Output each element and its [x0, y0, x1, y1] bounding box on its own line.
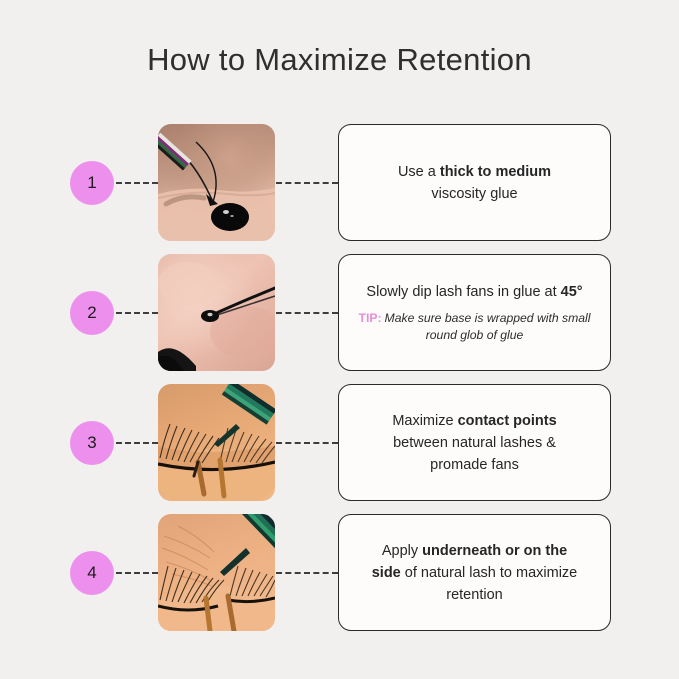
step-card-tip: TIP:Make sure base is wrapped with small… — [353, 310, 596, 344]
connector-dash-left — [116, 182, 158, 184]
step-row: 4 — [0, 514, 679, 644]
card-line2-bold: side — [372, 565, 401, 581]
connector-dash-left — [116, 442, 158, 444]
card-line1-bold: contact points — [458, 413, 557, 429]
card-line1-pre: Maximize — [392, 413, 457, 429]
step-number-badge-3: 3 — [70, 421, 114, 465]
card-line2-pre: viscosity glue — [431, 186, 517, 202]
step-number-label: 1 — [87, 173, 96, 193]
step-card-text: Use a thick to medium viscosity glue — [398, 161, 551, 205]
steps-list: 1 — [0, 124, 679, 644]
step-number-label: 4 — [87, 563, 96, 583]
connector-dash-right — [276, 182, 338, 184]
step-image-2 — [158, 254, 275, 371]
step-image-3 — [158, 384, 275, 501]
infographic-page: How to Maximize Retention 1 — [0, 0, 679, 679]
step-card-4: Apply underneath or on the side of natur… — [338, 514, 611, 631]
card-line1-bold: underneath or on the — [422, 543, 567, 559]
step-number-badge-4: 4 — [70, 551, 114, 595]
step-row: 3 — [0, 384, 679, 514]
step-card-text: Slowly dip lash fans in glue at 45° — [366, 281, 582, 303]
step-card-text: Apply underneath or on the side of natur… — [372, 540, 578, 606]
card-line1-pre: Apply — [382, 543, 422, 559]
card-line3: retention — [446, 587, 502, 603]
connector-dash-left — [116, 572, 158, 574]
page-title: How to Maximize Retention — [0, 42, 679, 78]
step-image-4 — [158, 514, 275, 631]
card-line1-pre: Slowly dip lash fans in glue at — [366, 284, 560, 300]
step-row: 1 — [0, 124, 679, 254]
step-number-badge-2: 2 — [70, 291, 114, 335]
step-card-3: Maximize contact points between natural … — [338, 384, 611, 501]
card-line3: promade fans — [430, 457, 519, 473]
card-line2-post: of natural lash to maximize — [401, 565, 578, 581]
connector-dash-right — [276, 312, 338, 314]
card-line1-bold: 45° — [561, 284, 583, 300]
step-card-text: Maximize contact points between natural … — [392, 410, 556, 476]
card-line2-pre: between natural lashes & — [393, 435, 556, 451]
step-image-1 — [158, 124, 275, 241]
card-line1-bold: thick to medium — [440, 164, 551, 180]
step-card-1: Use a thick to medium viscosity glue — [338, 124, 611, 241]
step-number-badge-1: 1 — [70, 161, 114, 205]
connector-dash-right — [276, 442, 338, 444]
connector-dash-left — [116, 312, 158, 314]
card-line1-pre: Use a — [398, 164, 440, 180]
step-row: 2 — [0, 254, 679, 384]
connector-dash-right — [276, 572, 338, 574]
step-number-label: 3 — [87, 433, 96, 453]
step-card-2: Slowly dip lash fans in glue at 45° TIP:… — [338, 254, 611, 371]
tip-label: TIP: — [359, 311, 382, 325]
step-number-label: 2 — [87, 303, 96, 323]
tip-text: Make sure base is wrapped with small rou… — [385, 311, 591, 342]
